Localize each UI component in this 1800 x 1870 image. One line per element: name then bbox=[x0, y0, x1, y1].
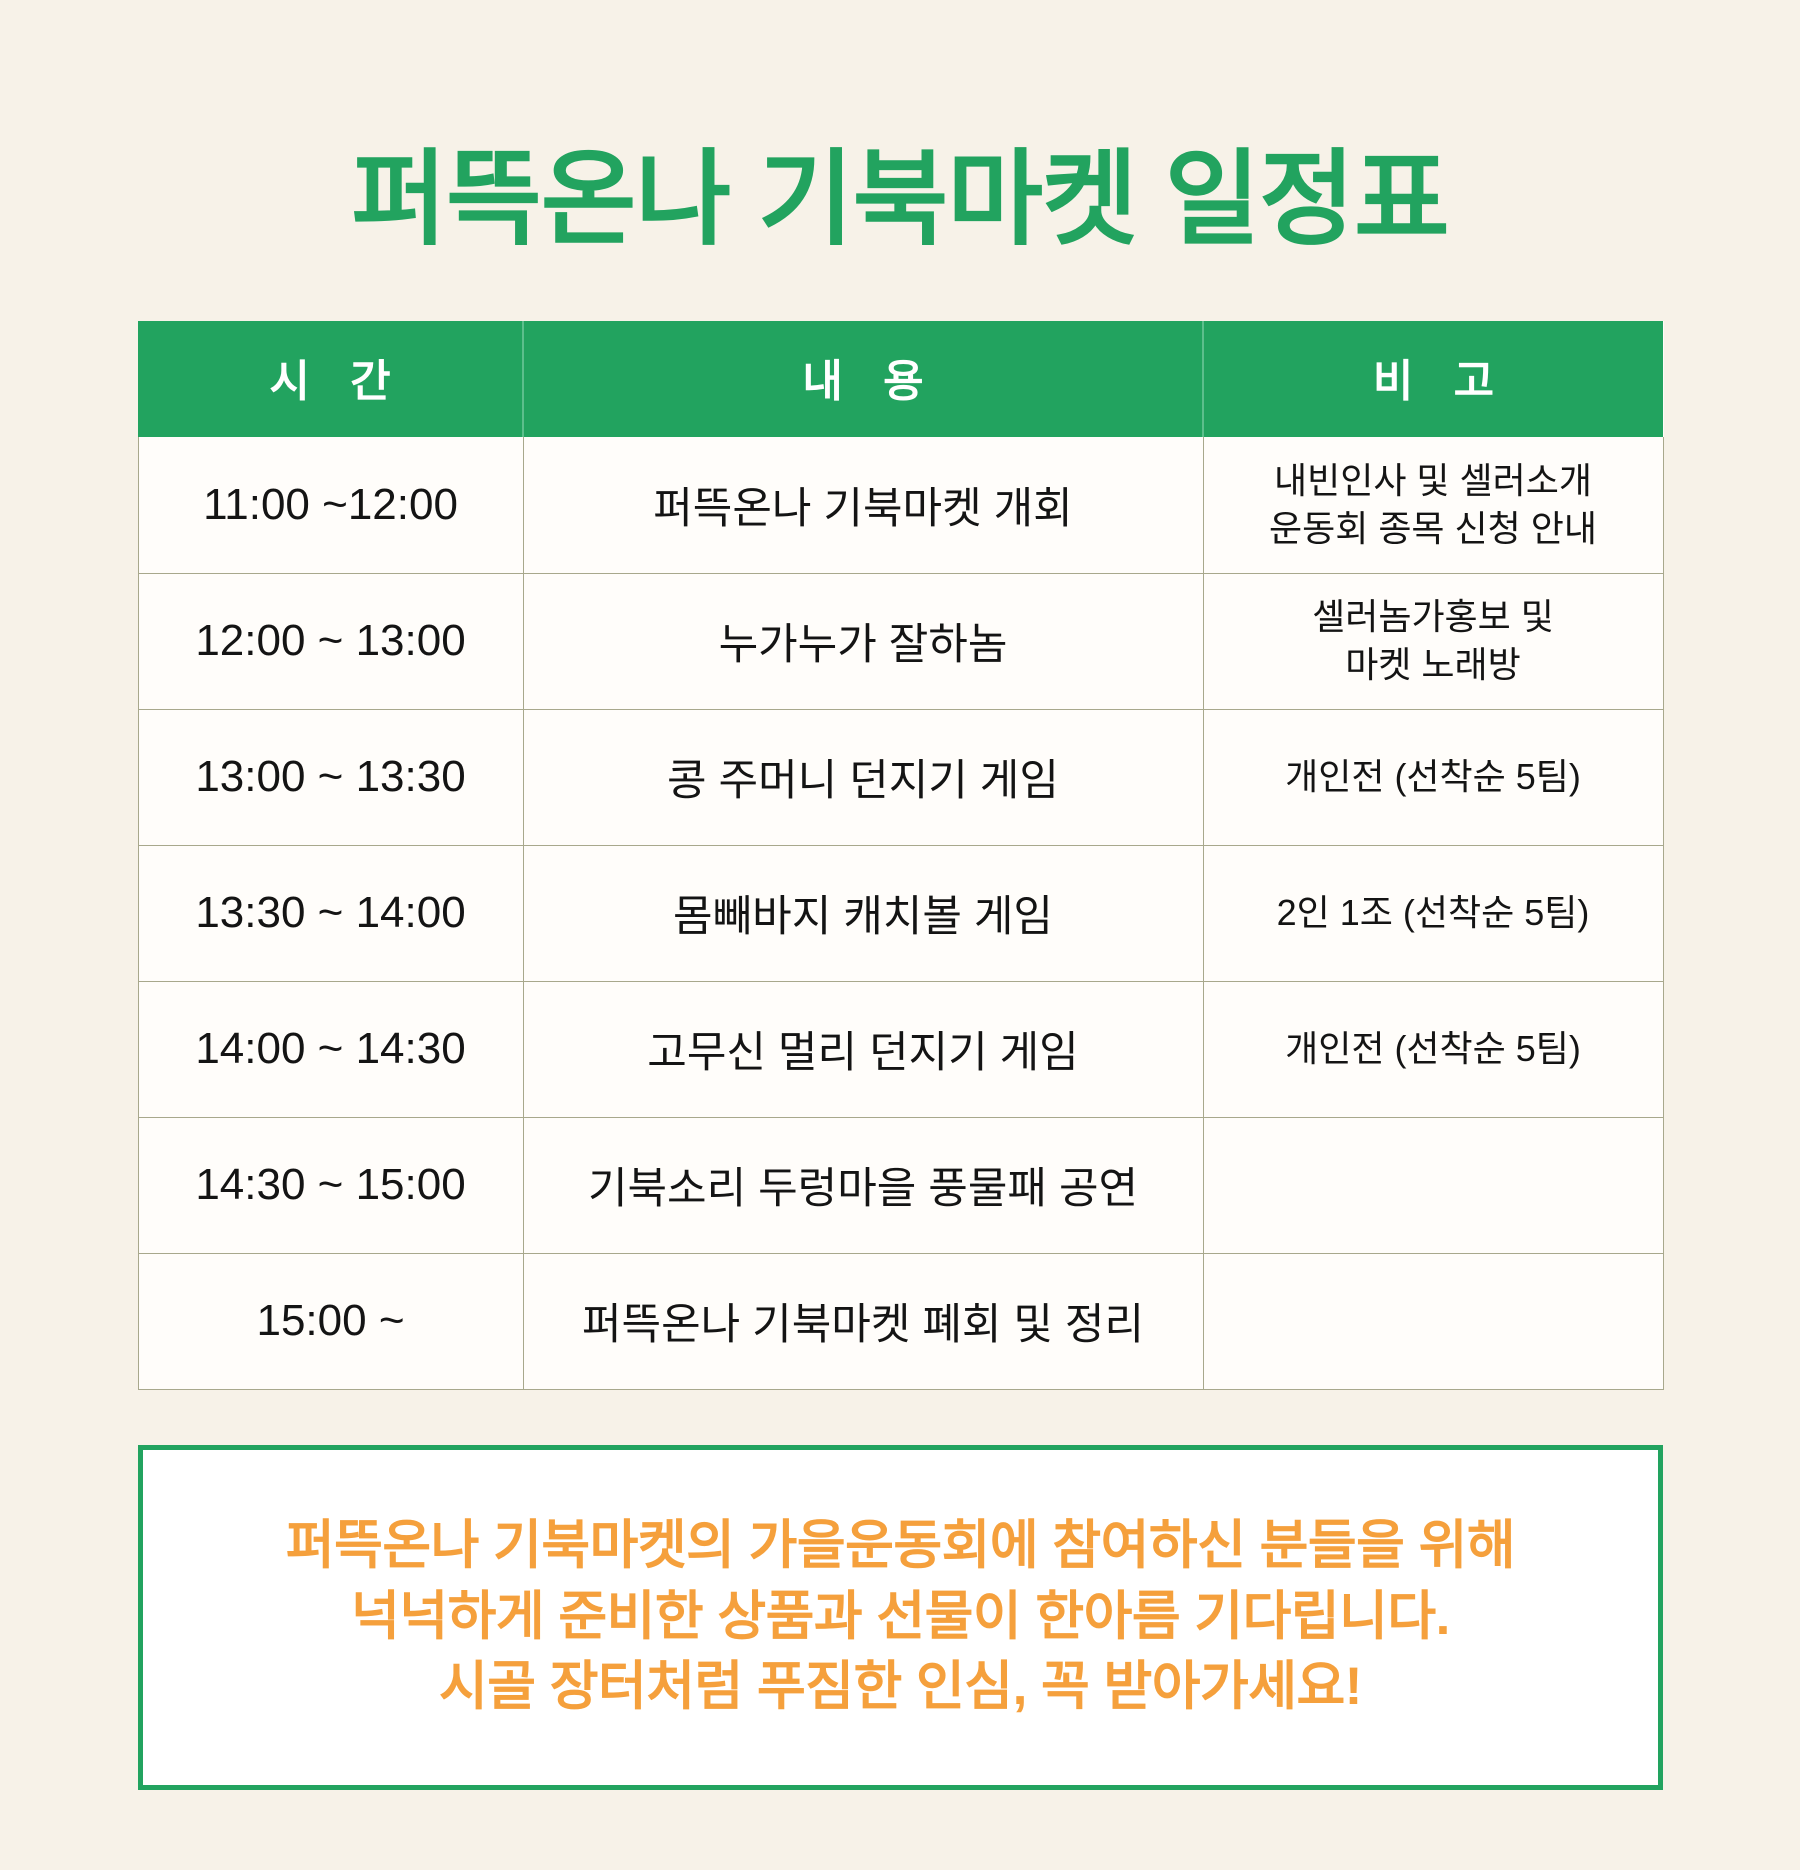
cell-time: 15:00 ~ bbox=[138, 1253, 523, 1389]
column-header-description: 내 용 bbox=[523, 321, 1203, 437]
cell-time: 14:00 ~ 14:30 bbox=[138, 981, 523, 1117]
table-header: 시 간 내 용 비 고 bbox=[138, 321, 1663, 437]
cell-description: 누가누가 잘하놈 bbox=[523, 573, 1203, 709]
cell-remarks: 내빈인사 및 셀러소개 운동회 종목 신청 안내 bbox=[1203, 437, 1663, 573]
column-header-time: 시 간 bbox=[138, 321, 523, 437]
remarks-line-2: 운동회 종목 신청 안내 bbox=[1214, 505, 1653, 554]
table-row: 14:30 ~ 15:00 기북소리 두렁마을 풍물패 공연 bbox=[138, 1117, 1663, 1253]
cell-description: 퍼뜩온나 기북마켓 폐회 및 정리 bbox=[523, 1253, 1203, 1389]
cell-time: 13:30 ~ 14:00 bbox=[138, 845, 523, 981]
cell-description: 기북소리 두렁마을 풍물패 공연 bbox=[523, 1117, 1203, 1253]
remarks-line-1: 내빈인사 및 셀러소개 bbox=[1214, 457, 1653, 506]
schedule-table-container: 시 간 내 용 비 고 11:00 ~12:00 퍼뜩온나 기북마켓 개회 내빈… bbox=[138, 321, 1663, 1390]
table-row: 14:00 ~ 14:30 고무신 멀리 던지기 게임 개인전 (선착순 5팀) bbox=[138, 981, 1663, 1117]
table-row: 12:00 ~ 13:00 누가누가 잘하놈 셀러놈가홍보 및 마켓 노래방 bbox=[138, 573, 1663, 709]
column-header-remarks: 비 고 bbox=[1203, 321, 1663, 437]
table-row: 13:00 ~ 13:30 콩 주머니 던지기 게임 개인전 (선착순 5팀) bbox=[138, 709, 1663, 845]
notice-line-2: 넉넉하게 준비한 상품과 선물이 한아름 기다립니다. bbox=[351, 1582, 1450, 1652]
cell-remarks: 2인 1조 (선착순 5팀) bbox=[1203, 845, 1663, 981]
remarks-line-1: 개인전 (선착순 5팀) bbox=[1214, 753, 1653, 802]
remarks-line-1: 2인 1조 (선착순 5팀) bbox=[1214, 889, 1653, 938]
cell-time: 12:00 ~ 13:00 bbox=[138, 573, 523, 709]
remarks-line-1: 셀러놈가홍보 및 bbox=[1214, 593, 1653, 642]
remarks-line-2: 마켓 노래방 bbox=[1214, 641, 1653, 690]
table-body: 11:00 ~12:00 퍼뜩온나 기북마켓 개회 내빈인사 및 셀러소개 운동… bbox=[138, 437, 1663, 1389]
cell-time: 11:00 ~12:00 bbox=[138, 437, 523, 573]
remarks-line-1: 개인전 (선착순 5팀) bbox=[1214, 1025, 1653, 1074]
table-row: 13:30 ~ 14:00 몸빼바지 캐치볼 게임 2인 1조 (선착순 5팀) bbox=[138, 845, 1663, 981]
cell-time: 13:00 ~ 13:30 bbox=[138, 709, 523, 845]
page-title: 퍼뜩온나 기북마켓 일정표 bbox=[0, 70, 1800, 252]
cell-remarks: 셀러놈가홍보 및 마켓 노래방 bbox=[1203, 573, 1663, 709]
table-row: 11:00 ~12:00 퍼뜩온나 기북마켓 개회 내빈인사 및 셀러소개 운동… bbox=[138, 437, 1663, 573]
notice-line-1: 퍼뜩온나 기북마켓의 가을운동회에 참여하신 분들을 위해 bbox=[286, 1511, 1515, 1581]
cell-description: 고무신 멀리 던지기 게임 bbox=[523, 981, 1203, 1117]
schedule-table: 시 간 내 용 비 고 11:00 ~12:00 퍼뜩온나 기북마켓 개회 내빈… bbox=[138, 321, 1664, 1390]
schedule-poster: 퍼뜩온나 기북마켓 일정표 시 간 내 용 비 고 11:00 ~12:00 퍼… bbox=[0, 70, 1800, 1870]
cell-description: 몸빼바지 캐치볼 게임 bbox=[523, 845, 1203, 981]
cell-remarks bbox=[1203, 1117, 1663, 1253]
header-row: 시 간 내 용 비 고 bbox=[138, 321, 1663, 437]
cell-time: 14:30 ~ 15:00 bbox=[138, 1117, 523, 1253]
cell-remarks bbox=[1203, 1253, 1663, 1389]
cell-remarks: 개인전 (선착순 5팀) bbox=[1203, 981, 1663, 1117]
table-row: 15:00 ~ 퍼뜩온나 기북마켓 폐회 및 정리 bbox=[138, 1253, 1663, 1389]
cell-description: 퍼뜩온나 기북마켓 개회 bbox=[523, 437, 1203, 573]
cell-remarks: 개인전 (선착순 5팀) bbox=[1203, 709, 1663, 845]
notice-box: 퍼뜩온나 기북마켓의 가을운동회에 참여하신 분들을 위해 넉넉하게 준비한 상… bbox=[138, 1445, 1663, 1790]
notice-line-3: 시골 장터처럼 푸짐한 인심, 꼭 받아가세요! bbox=[439, 1652, 1362, 1722]
cell-description: 콩 주머니 던지기 게임 bbox=[523, 709, 1203, 845]
